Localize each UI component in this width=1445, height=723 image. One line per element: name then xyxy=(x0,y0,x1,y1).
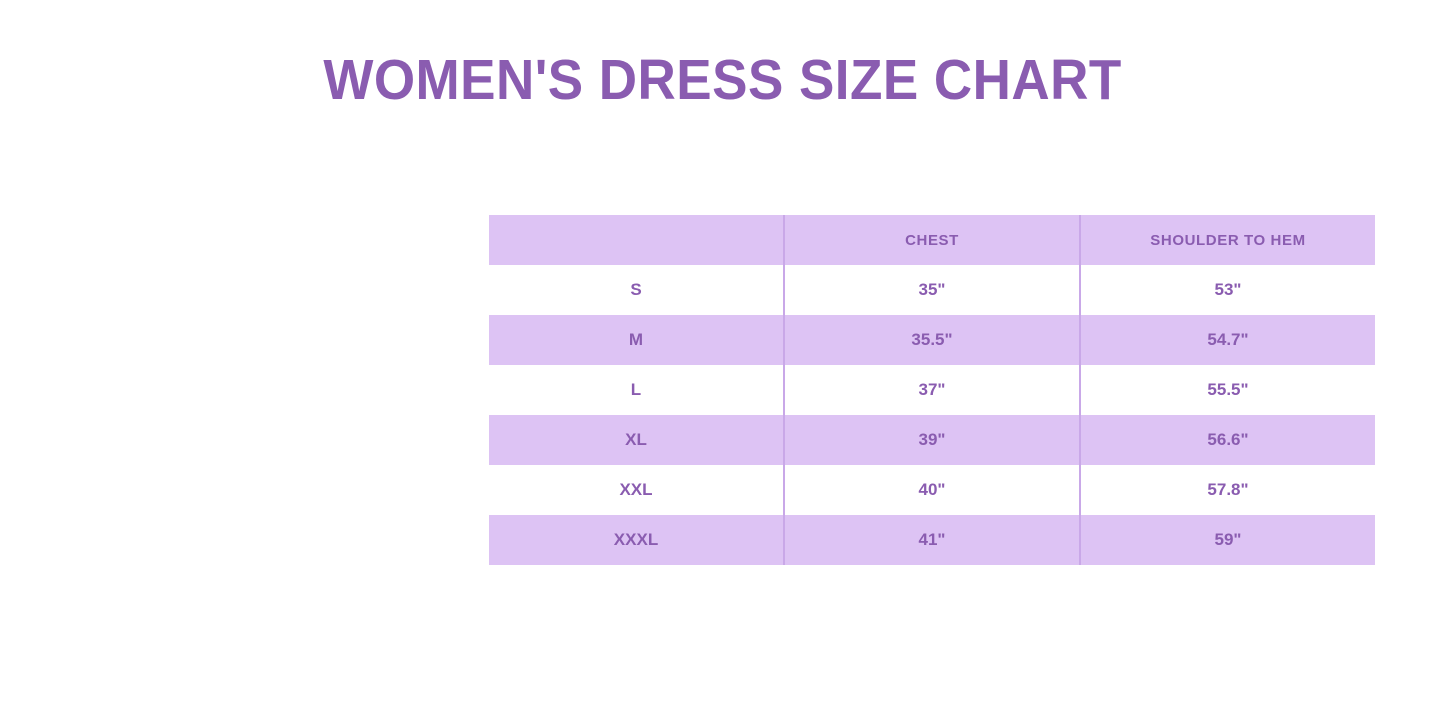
cell-shoulder-to-hem: 55.5" xyxy=(1080,365,1375,415)
cell-shoulder-to-hem: 57.8" xyxy=(1080,465,1375,515)
size-chart-table: CHEST SHOULDER TO HEM S 35" 53" M 35.5" … xyxy=(489,215,1375,565)
cell-shoulder-to-hem: 54.7" xyxy=(1080,315,1375,365)
table-row: XL 39" 56.6" xyxy=(489,415,1375,465)
cell-chest: 40" xyxy=(784,465,1080,515)
table-row: L 37" 55.5" xyxy=(489,365,1375,415)
table-header-row: CHEST SHOULDER TO HEM xyxy=(489,215,1375,265)
cell-size: XL xyxy=(489,415,784,465)
cell-chest: 35" xyxy=(784,265,1080,315)
cell-shoulder-to-hem: 56.6" xyxy=(1080,415,1375,465)
table-row: XXL 40" 57.8" xyxy=(489,465,1375,515)
cell-size: M xyxy=(489,315,784,365)
column-header-chest: CHEST xyxy=(784,215,1080,265)
column-header-shoulder-to-hem: SHOULDER TO HEM xyxy=(1080,215,1375,265)
cell-size: XXL xyxy=(489,465,784,515)
table-row: M 35.5" 54.7" xyxy=(489,315,1375,365)
table-body: S 35" 53" M 35.5" 54.7" L 37" 55.5" XL 3… xyxy=(489,265,1375,565)
cell-size: L xyxy=(489,365,784,415)
table-row: S 35" 53" xyxy=(489,265,1375,315)
cell-size: XXXL xyxy=(489,515,784,565)
cell-chest: 39" xyxy=(784,415,1080,465)
column-header-size xyxy=(489,215,784,265)
cell-chest: 41" xyxy=(784,515,1080,565)
cell-chest: 37" xyxy=(784,365,1080,415)
cell-chest: 35.5" xyxy=(784,315,1080,365)
size-chart-page: { "title": "WOMEN'S DRESS SIZE CHART", "… xyxy=(0,0,1445,723)
cell-shoulder-to-hem: 59" xyxy=(1080,515,1375,565)
cell-shoulder-to-hem: 53" xyxy=(1080,265,1375,315)
cell-size: S xyxy=(489,265,784,315)
page-title: WOMEN'S DRESS SIZE CHART xyxy=(51,52,1395,109)
table-row: XXXL 41" 59" xyxy=(489,515,1375,565)
table-header: CHEST SHOULDER TO HEM xyxy=(489,215,1375,265)
